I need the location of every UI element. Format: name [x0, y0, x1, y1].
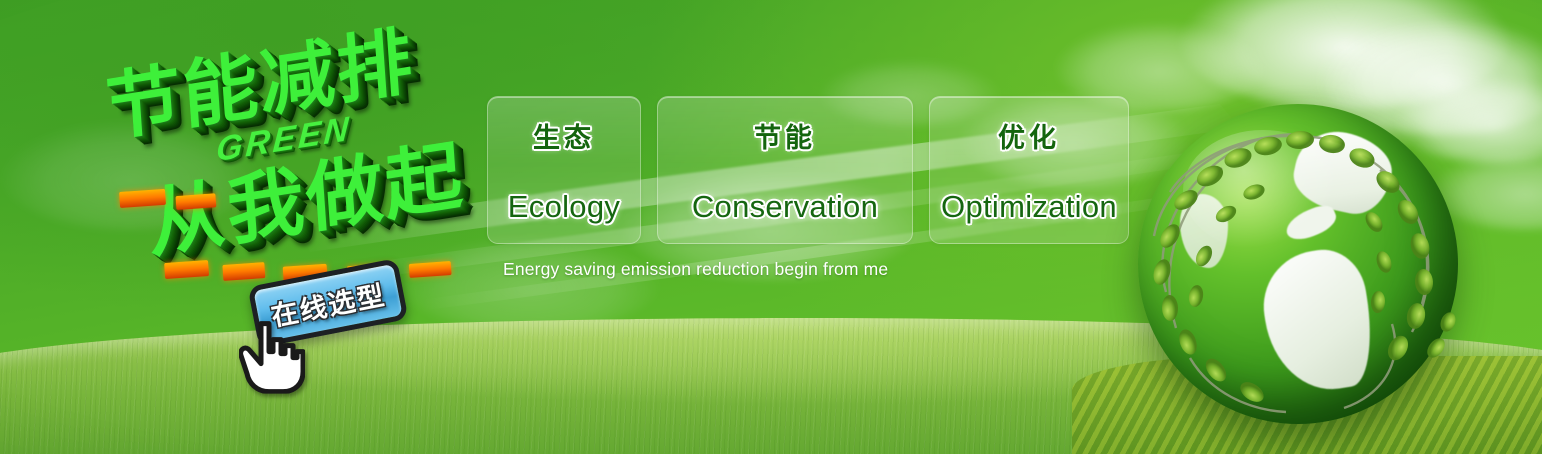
feature-card-cn-label: 节能	[754, 116, 816, 155]
feature-card-ecology[interactable]: 生态 Ecology	[487, 96, 641, 244]
feature-card-optimization[interactable]: 优化 Optimization	[929, 96, 1129, 244]
cloud-icon	[1180, 0, 1510, 110]
continent-south-america	[1256, 244, 1381, 399]
feature-card-cn-label: 优化	[998, 116, 1060, 155]
pointing-hand-cursor-icon	[239, 318, 305, 394]
eco-banner: 节能减排 GREEN 从我做起 在线选型 生态 Ecology 节能 Conse…	[0, 0, 1542, 454]
ember-glow-icon	[222, 262, 265, 281]
globe-sphere	[1138, 104, 1458, 424]
globe-highlight	[1183, 130, 1343, 252]
ember-glow-icon	[119, 189, 166, 208]
feature-card-en-label: Ecology	[508, 189, 620, 225]
ember-glow-icon	[409, 261, 452, 278]
feature-card-cn-label: 生态	[533, 116, 595, 155]
brand-logo-3d: 节能减排 GREEN 从我做起	[87, 29, 492, 286]
tagline-text: Energy saving emission reduction begin f…	[503, 259, 888, 280]
feature-card-en-label: Optimization	[941, 189, 1117, 225]
ember-glow-icon	[164, 260, 209, 279]
feature-card-en-label: Conservation	[692, 189, 878, 225]
feature-card-conservation[interactable]: 节能 Conservation	[657, 96, 913, 244]
feature-cards: 生态 Ecology 节能 Conservation 优化 Optimizati…	[487, 96, 1129, 244]
ember-glow-icon	[175, 193, 216, 210]
vine-wrapped-earth-globe-icon	[1138, 104, 1458, 424]
